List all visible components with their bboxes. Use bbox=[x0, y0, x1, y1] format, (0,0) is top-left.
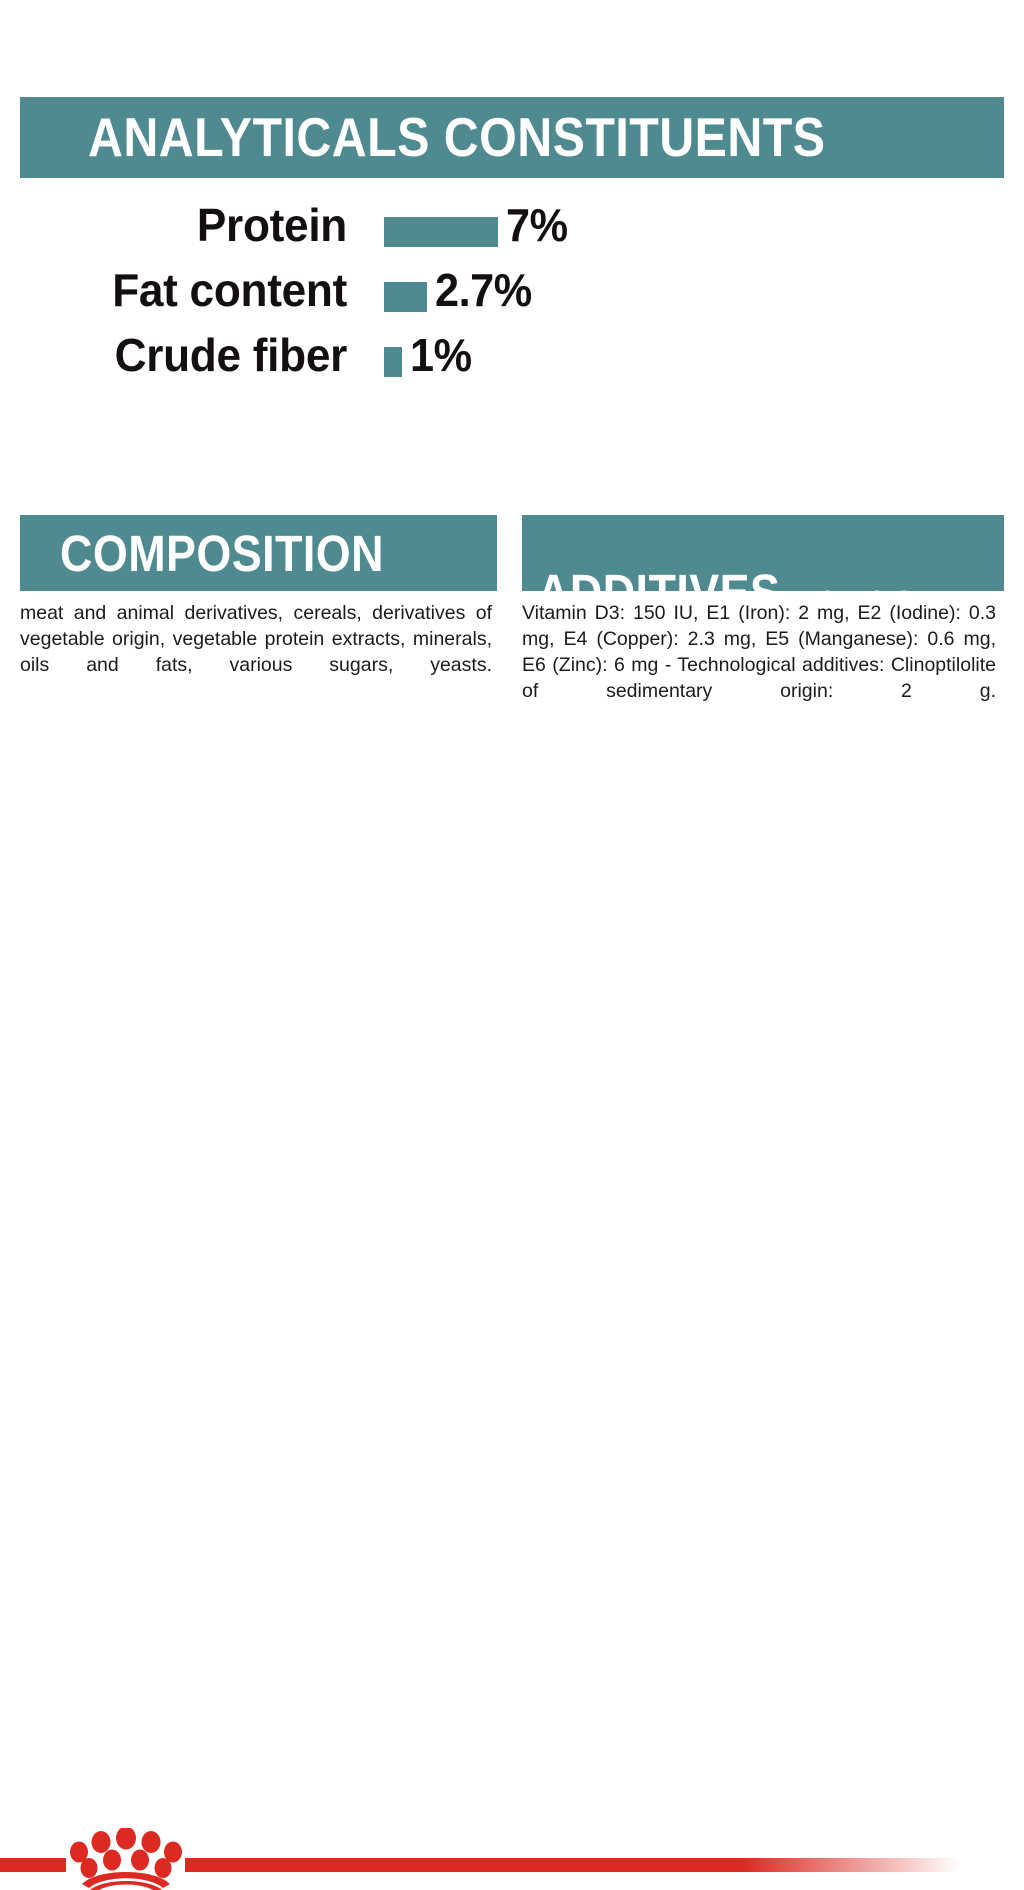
footer-rule-right bbox=[185, 1858, 960, 1872]
footer-rule-left bbox=[0, 1858, 66, 1872]
analyticals-chart: Protein 7% Fat content 2.7% Crude fiber … bbox=[0, 200, 1024, 395]
composition-paragraph: meat and animal derivatives, cereals, de… bbox=[20, 602, 492, 676]
additives-header-banner: ADDITIVES (per kg) bbox=[522, 515, 1004, 591]
nutrient-label-protein: Protein bbox=[0, 200, 347, 250]
nutrient-row: Fat content 2.7% bbox=[0, 265, 1024, 330]
analyticals-header-banner: ANALYTICALS CONSTITUENTS bbox=[20, 97, 1004, 178]
additives-body-text: Vitamin D3: 150 IU, E1 (Iron): 2 mg, E2 … bbox=[522, 600, 996, 730]
composition-heading: COMPOSITION bbox=[60, 528, 384, 579]
nutrient-row: Crude fiber 1% bbox=[0, 330, 1024, 395]
composition-body-text: meat and animal derivatives, cereals, de… bbox=[20, 600, 492, 704]
nutrient-row: Protein 7% bbox=[0, 200, 1024, 265]
nutrient-value-crude-fiber: 1% bbox=[410, 330, 472, 380]
nutrient-value-protein: 7% bbox=[506, 200, 568, 250]
additives-paragraph: Vitamin D3: 150 IU, E1 (Iron): 2 mg, E2 … bbox=[522, 602, 996, 702]
composition-header-banner: COMPOSITION bbox=[20, 515, 497, 591]
nutrient-label-fat-content: Fat content bbox=[0, 265, 347, 315]
nutrient-bar-crude-fiber bbox=[384, 347, 402, 377]
analyticals-heading: ANALYTICALS CONSTITUENTS bbox=[88, 110, 825, 165]
nutrient-bar-fat-content bbox=[384, 282, 427, 312]
nutrient-bar-protein bbox=[384, 217, 498, 247]
royal-canin-crown-icon bbox=[68, 1828, 184, 1890]
footer-brand-strip bbox=[0, 900, 1024, 1024]
nutrient-value-fat-content: 2.7% bbox=[435, 265, 532, 315]
nutrient-label-crude-fiber: Crude fiber bbox=[0, 330, 347, 380]
